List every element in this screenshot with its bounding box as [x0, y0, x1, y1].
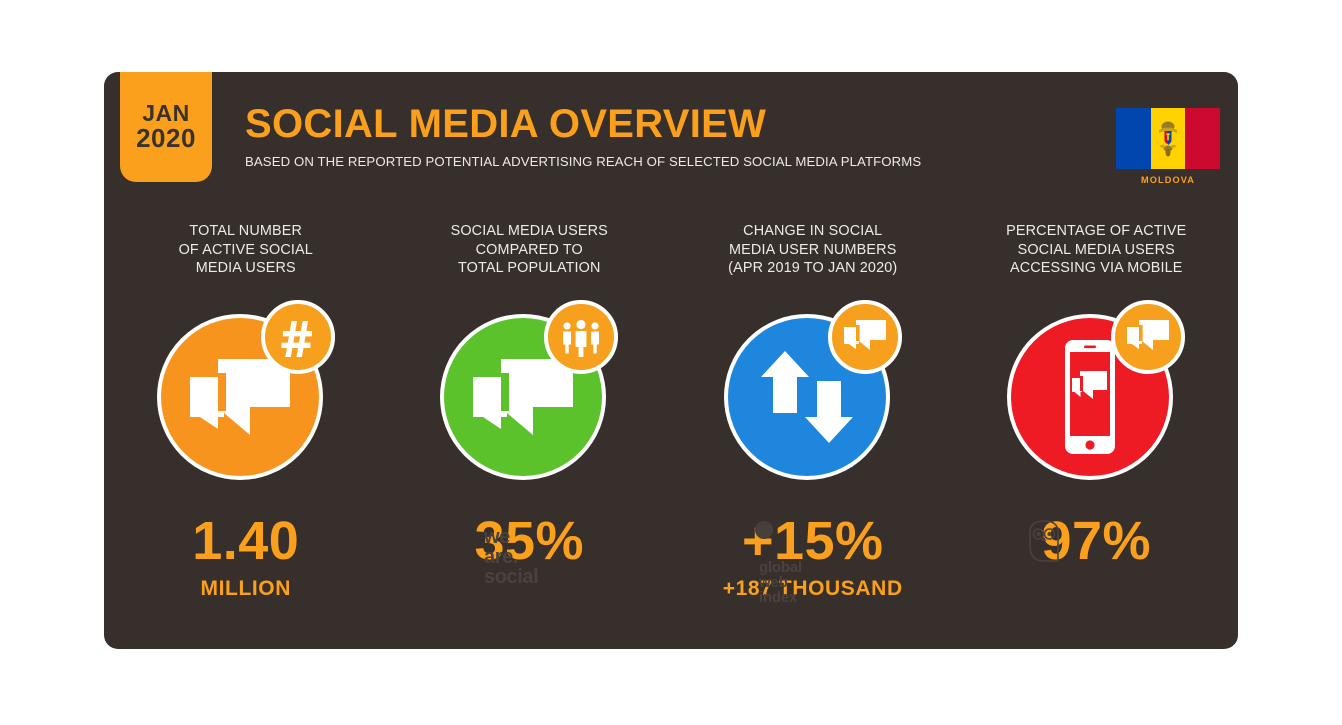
- metric-badge: [828, 300, 902, 374]
- country-flag-block: MOLDOVA: [1116, 108, 1220, 185]
- hashtag-icon: [278, 317, 318, 357]
- icon-group: [151, 294, 341, 484]
- date-badge-year: 2020: [136, 125, 196, 152]
- metric-subvalue: +187 THOUSAND: [723, 577, 903, 601]
- speech-bubble-icon: [843, 318, 887, 356]
- gwi-label: global web index: [759, 559, 802, 606]
- moldova-coat-of-arms-icon: [1155, 119, 1181, 159]
- metric-column-change: CHANGE IN SOCIAL MEDIA USER NUMBERS (APR…: [671, 222, 955, 601]
- we-are-social-watermark: we are. social: [484, 527, 538, 587]
- metric-badge: [1111, 300, 1185, 374]
- metric-label: PERCENTAGE OF ACTIVE SOCIAL MEDIA USERS …: [1006, 222, 1186, 284]
- metric-label: SOCIAL MEDIA USERS COMPARED TO TOTAL POP…: [451, 222, 608, 284]
- moldova-flag-icon: [1116, 108, 1220, 169]
- header: SOCIAL MEDIA OVERVIEW BASED ON THE REPOR…: [245, 104, 921, 169]
- icon-group: [718, 294, 908, 484]
- flag-band-red: [1185, 108, 1220, 169]
- metric-badge: [261, 300, 335, 374]
- page-subtitle: BASED ON THE REPORTED POTENTIAL ADVERTIS…: [245, 154, 921, 169]
- flag-band-blue: [1116, 108, 1151, 169]
- infographic-stage: JAN 2020 SOCIAL MEDIA OVERVIEW BASED ON …: [0, 0, 1342, 725]
- metric-value: 1.40: [192, 514, 299, 568]
- gwi-dot-icon: [755, 521, 773, 539]
- metric-label: TOTAL NUMBER OF ACTIVE SOCIAL MEDIA USER…: [179, 222, 313, 284]
- page-title: SOCIAL MEDIA OVERVIEW: [245, 104, 921, 144]
- hootsuite-watermark: [1024, 518, 1064, 568]
- metric-column-total-users: TOTAL NUMBER OF ACTIVE SOCIAL MEDIA USER…: [104, 222, 388, 601]
- metric-subvalue: MILLION: [200, 577, 291, 601]
- country-name: MOLDOVA: [1116, 175, 1220, 185]
- metric-badge: [544, 300, 618, 374]
- speech-bubble-icon: [1126, 318, 1170, 356]
- metric-column-mobile: PERCENTAGE OF ACTIVE SOCIAL MEDIA USERS …: [955, 222, 1239, 601]
- metric-label: CHANGE IN SOCIAL MEDIA USER NUMBERS (APR…: [728, 222, 897, 284]
- hootsuite-owl-icon: [1024, 518, 1064, 564]
- social-media-overview-card: JAN 2020 SOCIAL MEDIA OVERVIEW BASED ON …: [104, 72, 1238, 649]
- global-web-index-watermark: global web index: [759, 530, 802, 605]
- date-badge: JAN 2020: [120, 72, 212, 182]
- icon-group: [1001, 294, 1191, 484]
- metric-columns: TOTAL NUMBER OF ACTIVE SOCIAL MEDIA USER…: [104, 222, 1238, 601]
- people-group-icon: [559, 317, 603, 357]
- icon-group: [434, 294, 624, 484]
- date-badge-month: JAN: [142, 102, 190, 125]
